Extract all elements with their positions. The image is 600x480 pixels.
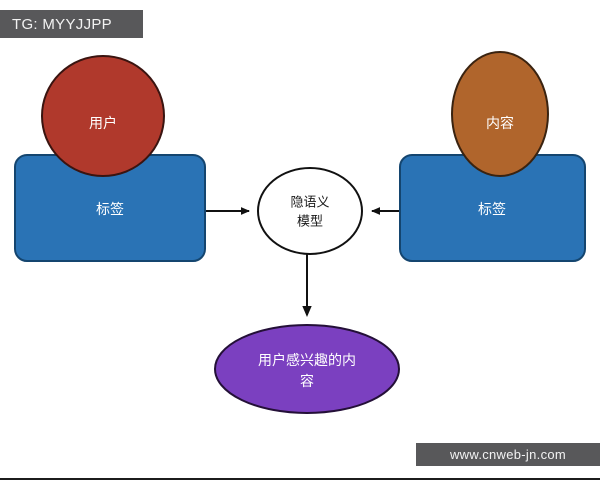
- user-tag-box-label: 标签: [96, 201, 124, 218]
- node-user-ellipse[interactable]: 用户: [42, 56, 164, 176]
- watermark-bottom-right: www.cnweb-jn.com: [416, 443, 600, 466]
- content-ellipse-label: 内容: [486, 115, 514, 132]
- model-ellipse-label-line1: 隐语义: [290, 196, 329, 211]
- watermark-top-left: TG: MYYJJPP: [0, 10, 143, 38]
- user-ellipse-label: 用户: [89, 115, 117, 132]
- content-ellipse-shape: [452, 52, 548, 176]
- node-content-ellipse[interactable]: 内容: [452, 52, 548, 176]
- result-ellipse-shape: [215, 325, 399, 413]
- diagram-canvas: 用户 内容 标签 标签 隐语义 模型 用户感兴趣的内 容 TG: MYYJJPP: [0, 0, 600, 480]
- result-ellipse-label-line1: 用户感兴趣的内: [258, 352, 356, 369]
- model-ellipse-label-line2: 模型: [297, 215, 323, 230]
- flow-diagram: 用户 内容 标签 标签 隐语义 模型 用户感兴趣的内 容: [0, 0, 600, 480]
- result-ellipse-label-line2: 容: [300, 373, 314, 390]
- node-model-ellipse[interactable]: 隐语义 模型: [258, 168, 362, 254]
- content-tag-box-label: 标签: [478, 201, 506, 218]
- node-result-ellipse[interactable]: 用户感兴趣的内 容: [215, 325, 399, 413]
- model-ellipse-shape: [258, 168, 362, 254]
